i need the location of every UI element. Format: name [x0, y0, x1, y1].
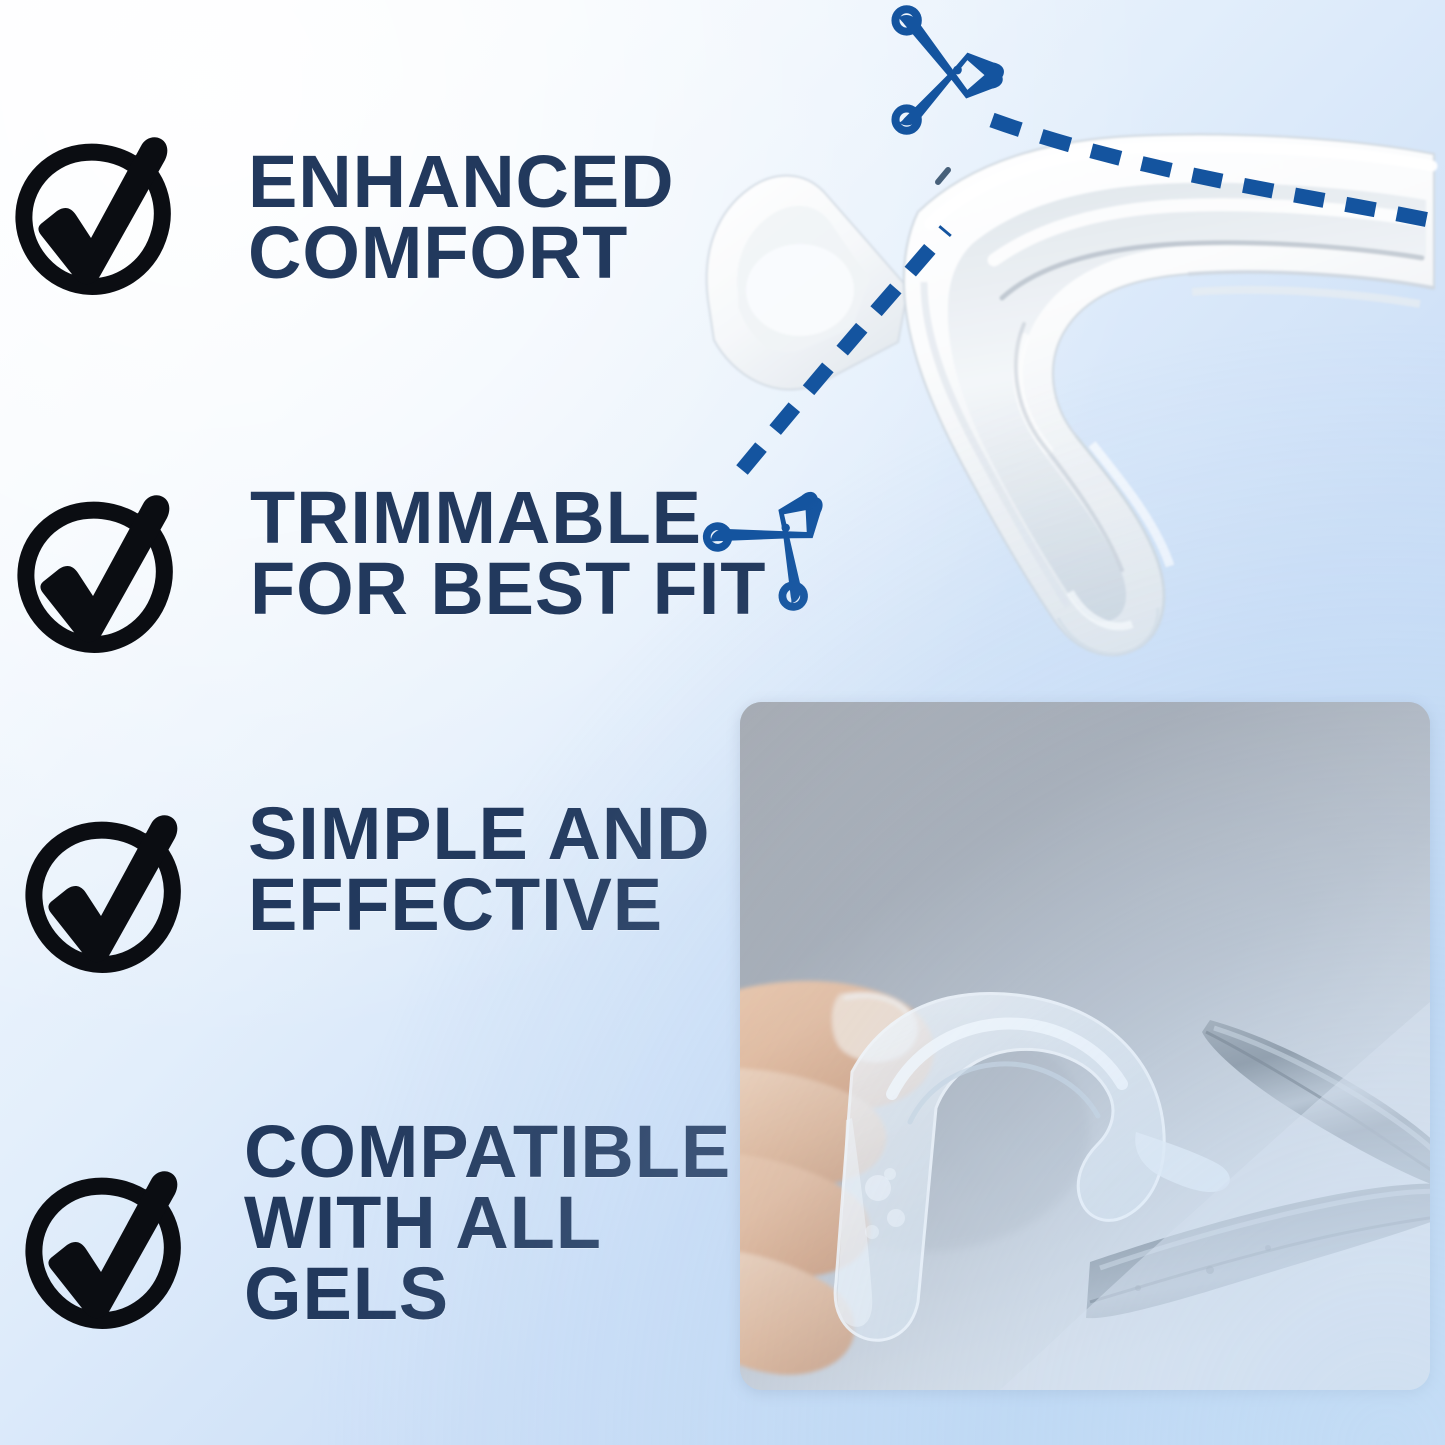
feature-label: ENHANCED COMFORT [248, 146, 674, 288]
feature-item-compatible-gels: COMPATIBLE WITH ALL GELS [18, 1162, 731, 1344]
check-circle-icon [8, 128, 190, 310]
check-circle-icon [18, 1162, 200, 1344]
feature-item-simple-effective: SIMPLE AND EFFECTIVE [18, 806, 711, 988]
product-image-mouth-tray [672, 92, 1445, 692]
feature-label: COMPATIBLE WITH ALL GELS [244, 1116, 731, 1329]
check-circle-icon [10, 486, 192, 668]
feature-item-enhanced-comfort: ENHANCED COMFORT [8, 128, 674, 310]
infographic-canvas: ENHANCED COMFORT TRIMMABLE FOR BEST FIT … [0, 0, 1445, 1445]
check-circle-icon [18, 806, 200, 988]
trimming-demo-photo [740, 702, 1430, 1390]
feature-item-trimmable: TRIMMABLE FOR BEST FIT [10, 486, 766, 668]
feature-label: SIMPLE AND EFFECTIVE [248, 798, 711, 940]
